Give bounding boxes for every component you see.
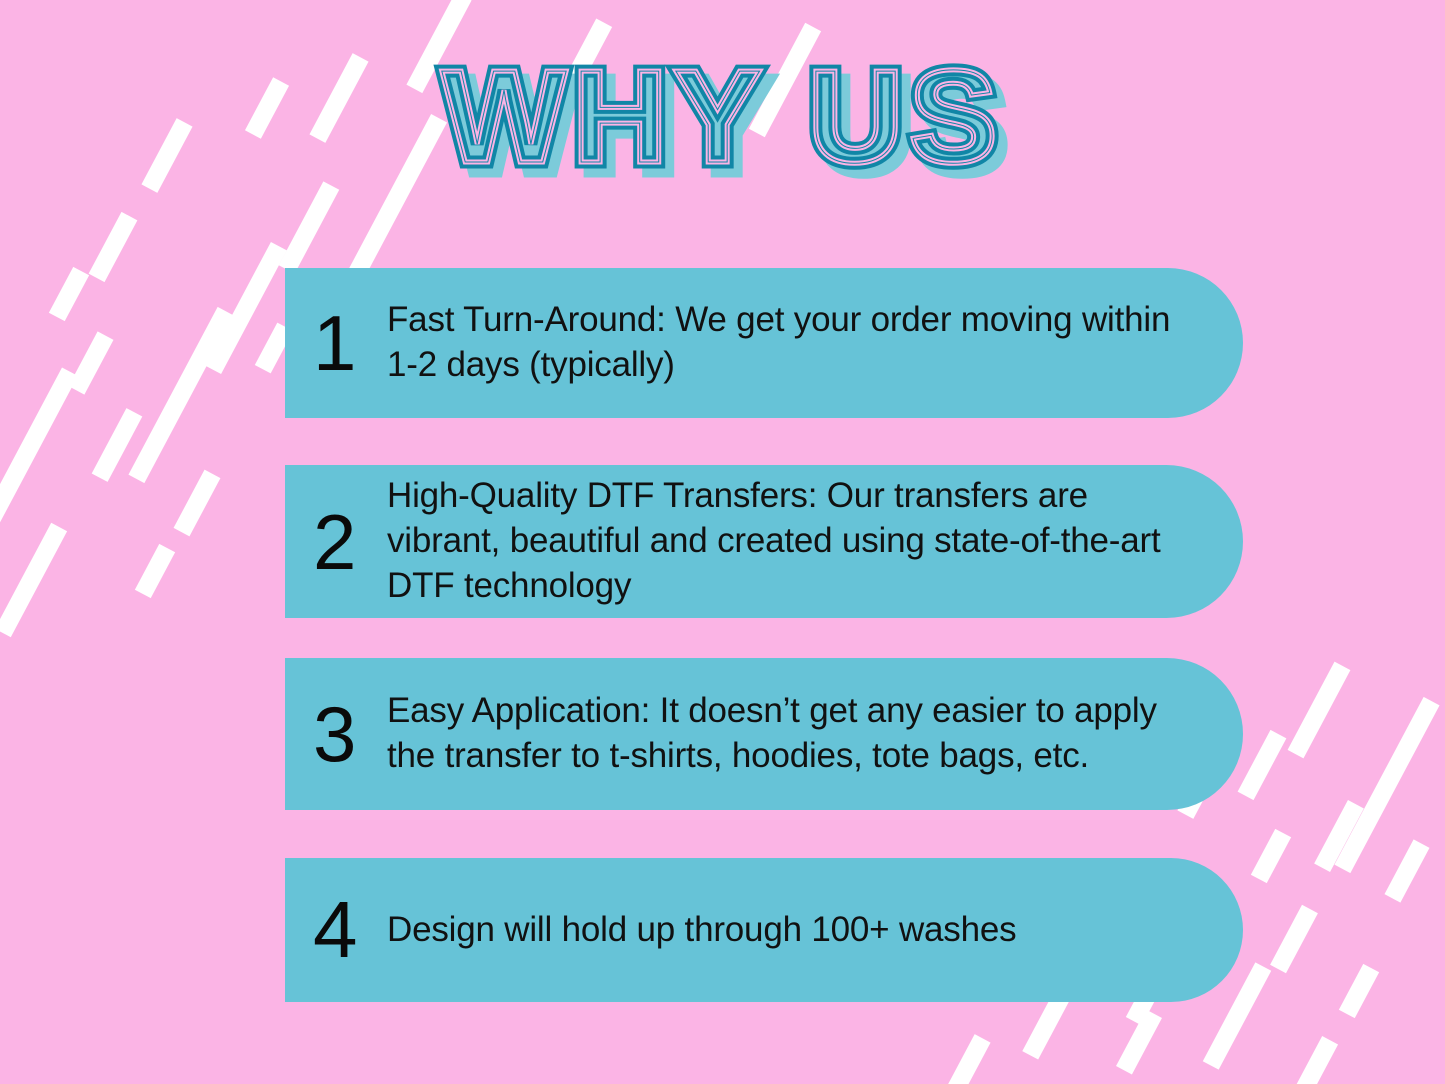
page-title-core-outline: WHY US — [0, 42, 1445, 192]
benefit-text-1: Fast Turn-Around: We get your order movi… — [387, 298, 1243, 388]
benefit-card-3: 3 Easy Application: It doesn’t get any e… — [285, 658, 1243, 810]
benefit-text-2: High-Quality DTF Transfers: Our transfer… — [387, 474, 1243, 608]
poster-canvas: WHY US WHY US WHY US WHY US WHY US 1 Fas… — [0, 0, 1445, 1084]
decor-dash — [92, 408, 143, 482]
benefit-number-2: 2 — [313, 503, 387, 581]
benefit-number-3: 3 — [313, 695, 387, 773]
benefit-number-4: 4 — [313, 891, 387, 969]
benefit-card-4: 4 Design will hold up through 100+ washe… — [285, 858, 1243, 1002]
decor-dash — [205, 242, 287, 374]
decor-dash — [1288, 662, 1351, 759]
decor-dash — [135, 544, 175, 598]
decor-dash — [68, 331, 113, 394]
benefit-card-1: 1 Fast Turn-Around: We get your order mo… — [285, 268, 1243, 418]
decor-dash — [0, 523, 67, 637]
decor-dash — [1270, 905, 1318, 973]
page-title: WHY US WHY US WHY US WHY US WHY US — [0, 42, 1445, 202]
decor-dash — [89, 212, 138, 282]
decor-dash — [1384, 839, 1429, 902]
decor-dash — [49, 267, 89, 321]
benefit-text-3: Easy Application: It doesn’t get any eas… — [387, 689, 1243, 779]
decor-dash — [128, 307, 233, 483]
benefit-text-4: Design will hold up through 100+ washes — [387, 908, 1243, 953]
decor-dash — [947, 1034, 990, 1084]
benefit-number-1: 1 — [313, 304, 387, 382]
decor-dash — [0, 367, 78, 552]
decor-dash — [1280, 1036, 1338, 1084]
decor-dash — [1251, 829, 1291, 883]
decor-dash — [1314, 800, 1364, 872]
decor-dash — [1116, 1010, 1162, 1075]
decor-dash — [1339, 964, 1379, 1018]
decor-dash — [1238, 730, 1287, 800]
decor-dash — [1334, 697, 1439, 873]
decor-dash — [174, 470, 221, 537]
benefit-card-2: 2 High-Quality DTF Transfers: Our transf… — [285, 465, 1243, 618]
